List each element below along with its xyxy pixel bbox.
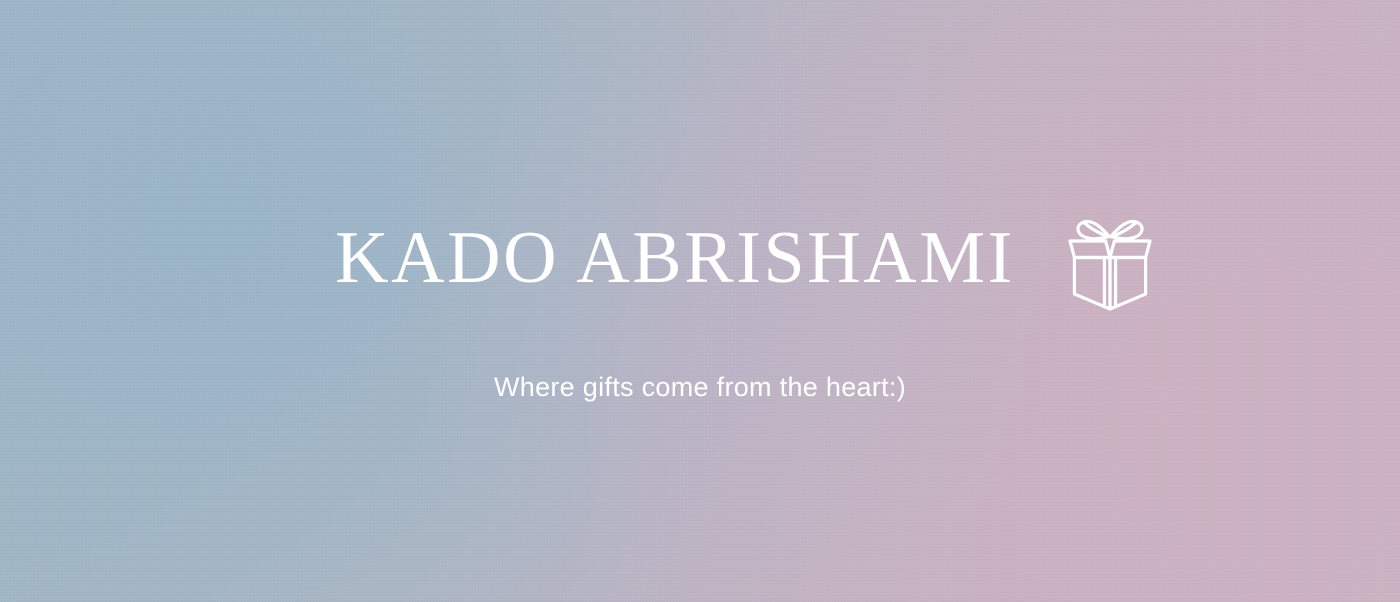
brand-lockup: KADO ABRISHAMI (335, 172, 1153, 345)
brand-tagline: Where gifts come from the heart:) (494, 371, 906, 403)
brand-title: KADO ABRISHAMI (335, 221, 1015, 295)
hero-banner: KADO ABRISHAMI (0, 0, 1400, 602)
banner-content: KADO ABRISHAMI (0, 0, 1400, 602)
gift-box-icon (1067, 208, 1153, 312)
